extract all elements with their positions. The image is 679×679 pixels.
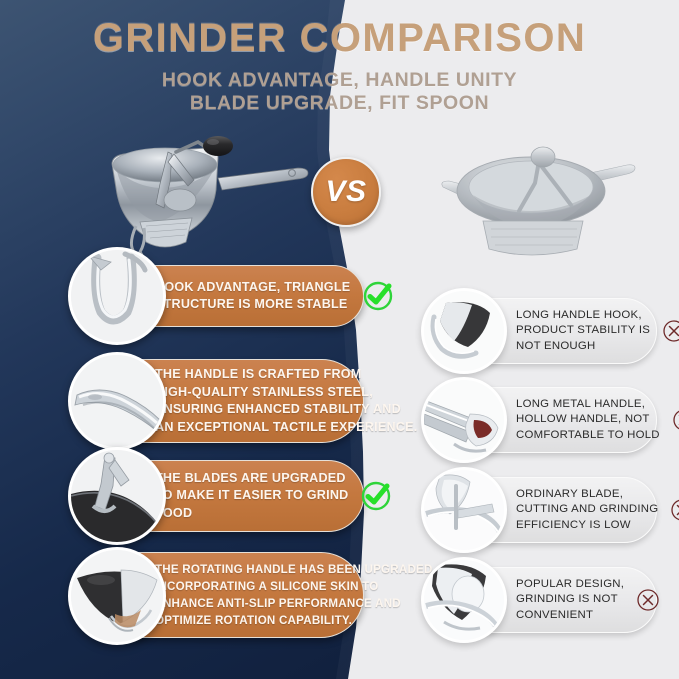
subtitle-line-2: BLADE UPGRADE, FIT SPOON [0,93,679,114]
advantage-card-hook-advantage[interactable]: HOOK ADVANTAGE, TRIANGLE STRUCTURE IS MO… [34,260,364,332]
advantage-card-handle-stainless-steel[interactable]: THE HANDLE IS CRAFTED FROM HIGH-QUALITY … [34,355,364,447]
ordinary-blade-thumb [421,467,507,553]
hero-product-right [435,143,640,265]
red-cross-icon [628,588,668,612]
blade-closeup-thumb [68,447,166,545]
vs-badge-label: VS [325,175,366,209]
silicone-knob-closeup-thumb [68,547,166,645]
subtitle-line-1: HOOK ADVANTAGE, HANDLE UNITY [0,70,679,91]
hero-product-left [98,118,313,264]
advantage-card-rotating-handle-silicone[interactable]: THE ROTATING HANDLE HAS BEEN UPGRADED, I… [34,548,364,644]
hook-closeup-thumb [68,247,166,345]
drawback-card-ordinary-blade[interactable]: ORDINARY BLADE, CUTTING AND GRINDING EFF… [409,472,657,548]
vs-badge: VS [311,157,381,227]
header: GRINDER COMPARISON HOOK ADVANTAGE, HANDL… [0,18,679,114]
drawback-card-popular-design[interactable]: POPULAR DESIGN, GRINDING IS NOT CONVENIE… [409,562,657,638]
ordinary-knob-thumb [421,557,507,643]
green-check-icon [356,279,400,313]
advantage-card-upgraded-blades[interactable]: THE BLADES ARE UPGRADED TO MAKE IT EASIE… [34,455,364,537]
metal-handle-thumb [421,377,507,463]
red-cross-icon [662,498,679,522]
red-cross-icon [664,408,679,432]
green-check-icon [354,479,398,513]
drawback-card-long-metal-handle[interactable]: LONG METAL HANDLE, HOLLOW HANDLE, NOT CO… [409,382,657,458]
red-cross-icon [654,319,679,343]
infographic-canvas: GRINDER COMPARISON HOOK ADVANTAGE, HANDL… [0,0,679,679]
handle-closeup-thumb [68,352,166,450]
plain-hook-thumb [421,288,507,374]
page-title: GRINDER COMPARISON [0,18,679,58]
drawback-card-long-handle-hook[interactable]: LONG HANDLE HOOK, PRODUCT STABILITY IS N… [409,293,657,369]
